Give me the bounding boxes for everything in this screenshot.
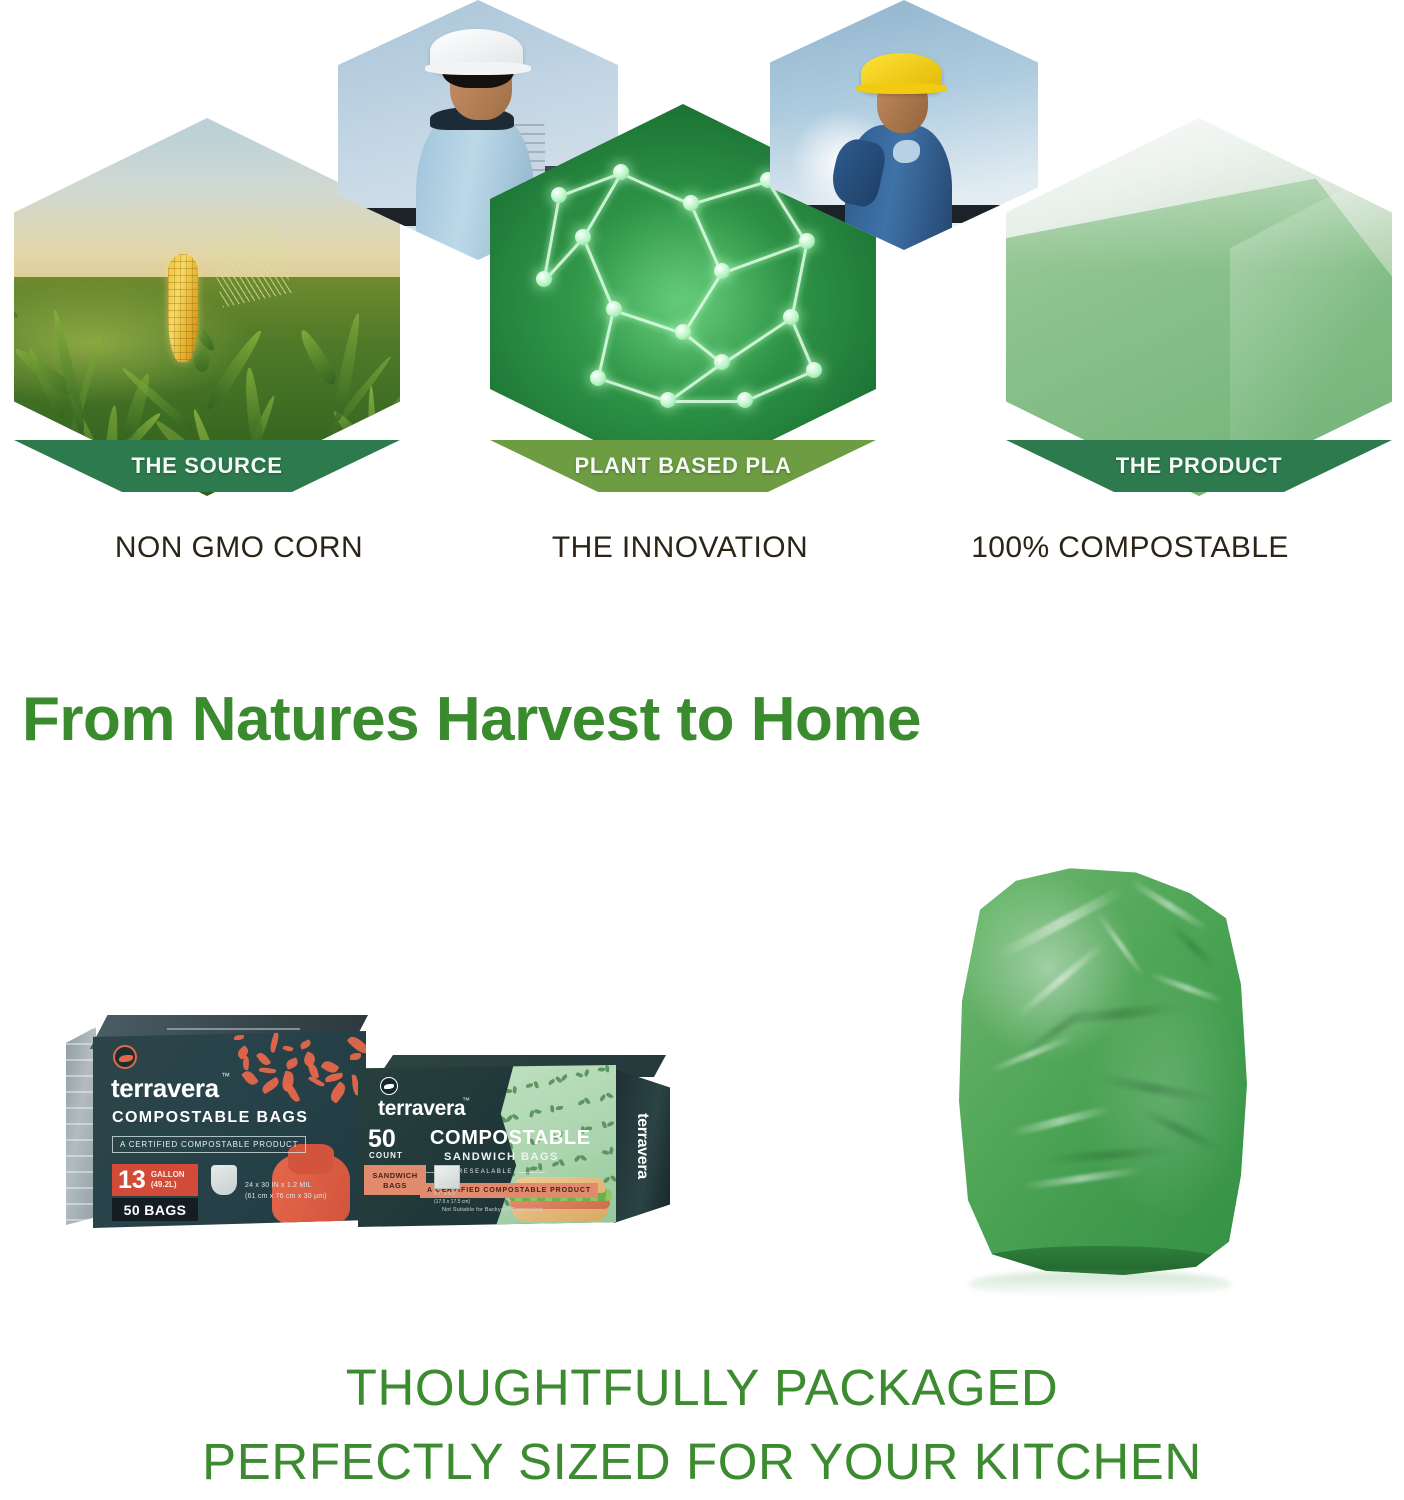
green-bag-reflection <box>968 1271 1232 1297</box>
box-size-badge: 13 GALLON (49.2L) <box>112 1164 198 1196</box>
box-size-number: 13 <box>118 1168 146 1193</box>
box-size-unit: GALLON <box>151 1170 185 1180</box>
green-film-image <box>1006 118 1392 496</box>
footer-line-one: THOUGHTFULLY PACKAGED <box>0 1358 1404 1417</box>
sandwich-bag-shape-icon <box>434 1165 460 1189</box>
green-compostable-bag-image <box>950 860 1250 1275</box>
product-showcase: terravera ™ COMPOSTABLE BAGS A CERTIFIED… <box>0 830 1404 1310</box>
leaf-decoration <box>234 1035 364 1105</box>
sandwich-box-count-word: COUNT <box>369 1151 403 1160</box>
box-dimensions: 24 x 30 IN x 1.2 MIL (61 cm x 76 cm x 30… <box>245 1181 327 1202</box>
product-box-sandwich-bags: terravera terravera ™ COMPOSTABLE SANDWI… <box>358 1055 676 1230</box>
hexagon-label-plant-based-pla: PLANT BASED PLA <box>490 440 876 492</box>
terravera-logo-icon <box>113 1045 137 1069</box>
sandwich-bag-dimensions-metric: (17.5 x 17.5 cm) <box>434 1199 470 1207</box>
box-left-panel <box>66 1027 96 1225</box>
box-product-title: COMPOSTABLE BAGS <box>112 1109 308 1127</box>
box-brand-name: terravera <box>111 1073 219 1104</box>
caption-non-gmo-corn: NON GMO CORN <box>14 524 464 572</box>
box-trademark-symbol: ™ <box>221 1071 230 1081</box>
terravera-logo-icon-sandwich <box>380 1077 398 1095</box>
green-bag-body <box>950 860 1250 1275</box>
sandwich-bag-dimensions-imperial: 6.7" x 6.9" <box>434 1191 470 1199</box>
hexagon-the-product <box>1006 118 1392 496</box>
footer-line-two: PERFECTLY SIZED FOR YOUR KITCHEN <box>0 1432 1404 1491</box>
sandwich-box-type-badge: SANDWICH BAGS <box>364 1165 426 1195</box>
sandwich-box-resealable-label: RESEALABLE <box>458 1169 513 1175</box>
box-certification-text: A CERTIFIED COMPOSTABLE PRODUCT <box>112 1136 306 1153</box>
hexagon-label-the-source: THE SOURCE <box>14 440 400 492</box>
box-count-label: 50 BAGS <box>124 1202 187 1218</box>
sandwich-box-product-title: COMPOSTABLE <box>430 1127 591 1150</box>
box-front-panel: terravera ™ COMPOSTABLE BAGS A CERTIFIED… <box>93 1031 366 1228</box>
sandwich-box-disclaimer: Not Suitable for Backyard Composting <box>442 1207 542 1213</box>
caption-100-percent-compostable: 100% COMPOSTABLE <box>890 524 1370 572</box>
bag-shape-icon <box>211 1165 237 1195</box>
sandwich-box-badge-line2: BAGS <box>383 1181 407 1190</box>
box-dimensions-imperial: 24 x 30 IN x 1.2 MIL <box>245 1181 327 1192</box>
sandwich-box-side-panel: terravera <box>614 1069 670 1223</box>
sandwich-box-badge-line1: SANDWICH <box>372 1171 417 1180</box>
sandwich-box-product-subtitle: SANDWICH BAGS <box>444 1151 559 1163</box>
box-size-metric: (49.2L) <box>151 1180 185 1190</box>
box-dimensions-metric: (61 cm x 76 cm x 30 µm) <box>245 1192 327 1203</box>
sandwich-box-side-brand: terravera <box>633 1113 651 1179</box>
box-count-badge: 50 BAGS <box>112 1198 198 1221</box>
caption-the-innovation: THE INNOVATION <box>470 524 890 572</box>
sandwich-box-front-panel: terravera ™ COMPOSTABLE SANDWICH BAGS RE… <box>358 1065 616 1227</box>
sandwich-box-count-number: 50 <box>368 1127 396 1152</box>
product-box-compostable-bags: terravera ™ COMPOSTABLE BAGS A CERTIFIED… <box>66 1015 366 1230</box>
main-headline: From Natures Harvest to Home <box>22 680 1382 760</box>
process-hexagon-cluster: THE SOURCE PLANT BASED PLA THE PRODUCT N… <box>0 0 1404 520</box>
hexagon-label-the-product: THE PRODUCT <box>1006 440 1392 492</box>
sandwich-bag-dimensions: 6.7" x 6.9" (17.5 x 17.5 cm) <box>434 1191 470 1206</box>
sandwich-box-brand-name: terravera <box>378 1097 465 1121</box>
sandwich-box-trademark-symbol: ™ <box>462 1096 470 1105</box>
